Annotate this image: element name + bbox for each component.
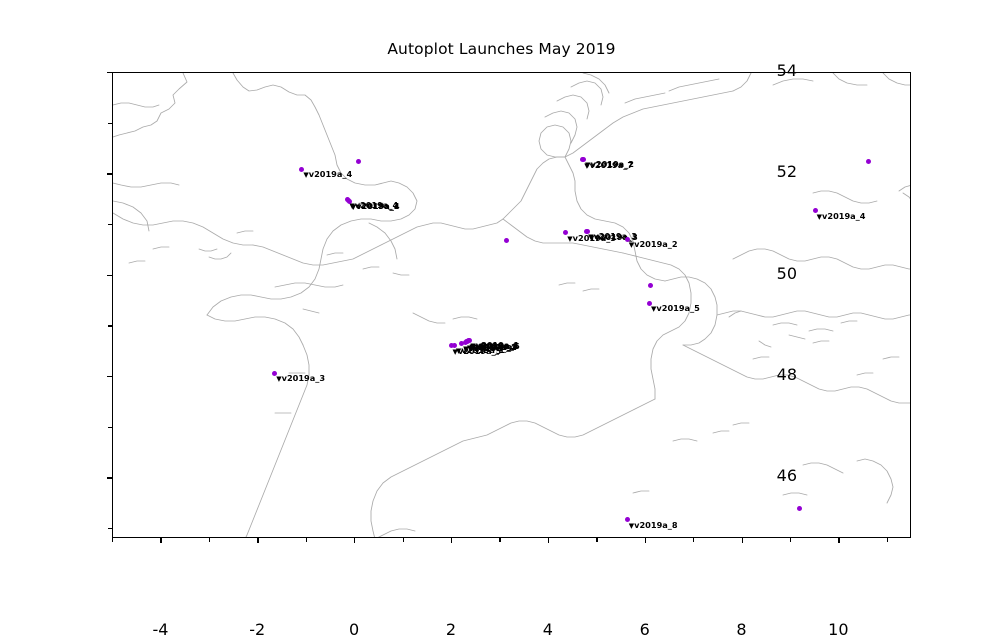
x-axis-tick-label: 0 [324, 620, 384, 639]
axis-tick-minor [108, 325, 112, 326]
axis-tick-major [257, 538, 258, 543]
axis-tick-minor [108, 528, 112, 529]
axis-tick-minor [596, 538, 597, 542]
y-axis-tick-label: 50 [753, 264, 797, 283]
axis-tick-minor [887, 538, 888, 542]
axis-tick-minor [499, 538, 500, 542]
x-axis-tick-label: 2 [421, 620, 481, 639]
axis-tick-major [838, 538, 839, 543]
x-axis-tick-label: 8 [712, 620, 772, 639]
y-axis-tick-label: 54 [753, 61, 797, 80]
x-axis-tick-label: -2 [227, 620, 287, 639]
axis-tick-major [107, 275, 112, 276]
x-axis-tick-label: 4 [518, 620, 578, 639]
axis-tick-major [107, 72, 112, 73]
axis-ticks-layer: 5452504846-4-20246810 [112, 72, 911, 538]
axis-tick-minor [693, 538, 694, 542]
axis-tick-minor [403, 538, 404, 542]
axis-tick-major [107, 376, 112, 377]
chart-title: Autoplot Launches May 2019 [0, 40, 1003, 58]
axis-tick-minor [112, 538, 113, 542]
y-axis-tick-label: 46 [753, 466, 797, 485]
axis-tick-major [107, 477, 112, 478]
axis-tick-minor [108, 427, 112, 428]
x-axis-tick-label: 10 [808, 620, 868, 639]
axis-tick-minor [306, 538, 307, 542]
axis-tick-major [742, 538, 743, 543]
axis-tick-major [107, 173, 112, 174]
y-axis-tick-label: 48 [753, 365, 797, 384]
axis-tick-major [645, 538, 646, 543]
axis-tick-major [354, 538, 355, 543]
axis-tick-major [160, 538, 161, 543]
y-axis-tick-label: 52 [753, 162, 797, 181]
axis-tick-minor [790, 538, 791, 542]
axis-tick-minor [108, 123, 112, 124]
axis-tick-minor [209, 538, 210, 542]
x-axis-tick-label: -4 [130, 620, 190, 639]
axis-tick-major [451, 538, 452, 543]
axis-tick-minor [108, 224, 112, 225]
figure-canvas: Autoplot Launches May 2019 [0, 0, 1003, 633]
axis-tick-major [548, 538, 549, 543]
x-axis-tick-label: 6 [615, 620, 675, 639]
